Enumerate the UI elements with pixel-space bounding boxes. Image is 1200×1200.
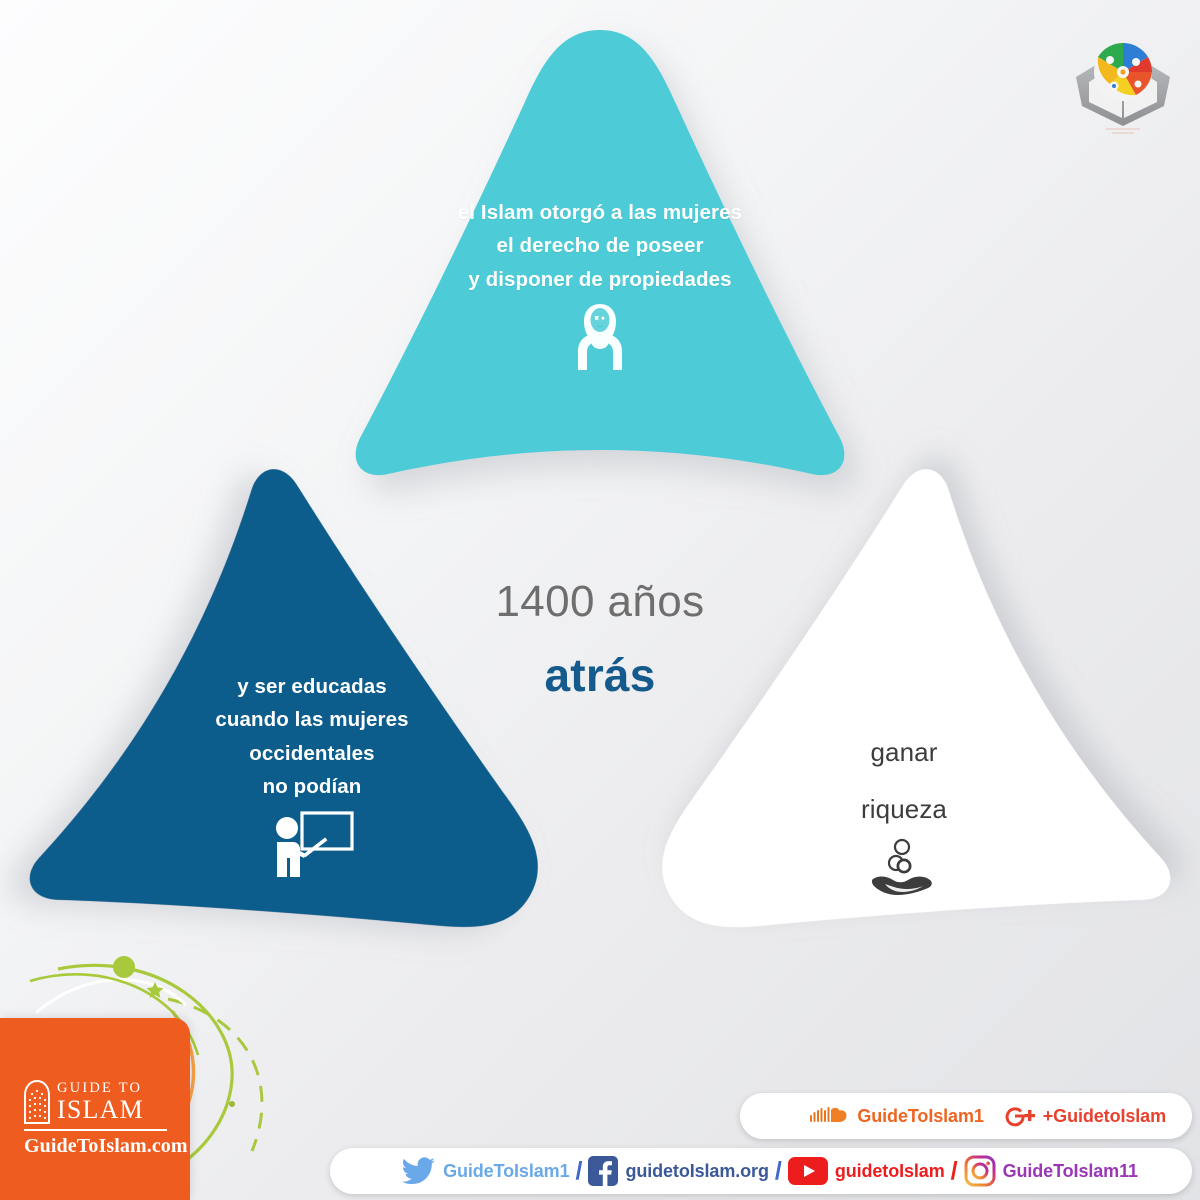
soundcloud-icon [810,1105,850,1127]
social-link-google-plus[interactable]: +GuidetoIslam [1002,1104,1166,1128]
logo-website-url[interactable]: GuideToIslam.com [24,1135,174,1158]
twitter-label: GuideToIslam1 [443,1161,569,1182]
logo-line-islam: ISLAM [57,1097,144,1123]
separator-2: / [775,1157,782,1186]
social-link-soundcloud[interactable]: GuideToIslam1 [810,1105,983,1127]
social-bar-secondary: GuideToIslam1 +GuidetoIslam [740,1093,1192,1139]
facebook-icon [588,1156,618,1186]
instagram-label: GuideToIslam11 [1003,1161,1138,1182]
separator-3: / [951,1157,958,1186]
social-link-youtube[interactable]: guidetoIslam [788,1157,945,1185]
separator-1: / [575,1157,582,1186]
center-years-label: 1400 años [398,580,802,624]
youtube-label: guidetoIslam [835,1161,945,1182]
twitter-icon [402,1157,436,1185]
google-plus-label: +GuidetoIslam [1043,1106,1166,1127]
google-plus-icon [1002,1104,1036,1128]
guide-to-islam-globe-book-logo [1068,32,1178,137]
mosque-arch-icon [24,1080,50,1124]
logo-content: GUIDE TO ISLAM GuideToIslam.com [24,1080,174,1158]
infographic-canvas: el Islam otorgó a las mujeres el derecho… [0,0,1200,1200]
social-link-twitter[interactable]: GuideToIslam1 [402,1157,569,1185]
petal-top: el Islam otorgó a las mujeres el derecho… [340,18,860,538]
social-link-instagram[interactable]: GuideToIslam11 [964,1155,1138,1187]
social-bar-primary: GuideToIslam1 / guidetoIslam.org / guide… [330,1148,1192,1194]
social-link-facebook[interactable]: guidetoIslam.org [588,1156,768,1186]
center-ago-label: atrás [398,652,802,698]
logo-line-guide: GUIDE TO [57,1081,144,1096]
facebook-label: guidetoIslam.org [625,1161,768,1182]
guide-to-islam-logo-card[interactable]: GUIDE TO ISLAM GuideToIslam.com [0,1018,190,1200]
logo-title-row: GUIDE TO ISLAM [24,1080,174,1124]
center-text-block: 1400 años atrás [398,580,802,698]
logo-divider [24,1129,167,1131]
soundcloud-label: GuideToIslam1 [857,1106,983,1127]
petal-top-shape [340,18,860,538]
youtube-icon [788,1157,828,1185]
instagram-icon [964,1155,996,1187]
logo-wordmark: GUIDE TO ISLAM [57,1081,144,1123]
